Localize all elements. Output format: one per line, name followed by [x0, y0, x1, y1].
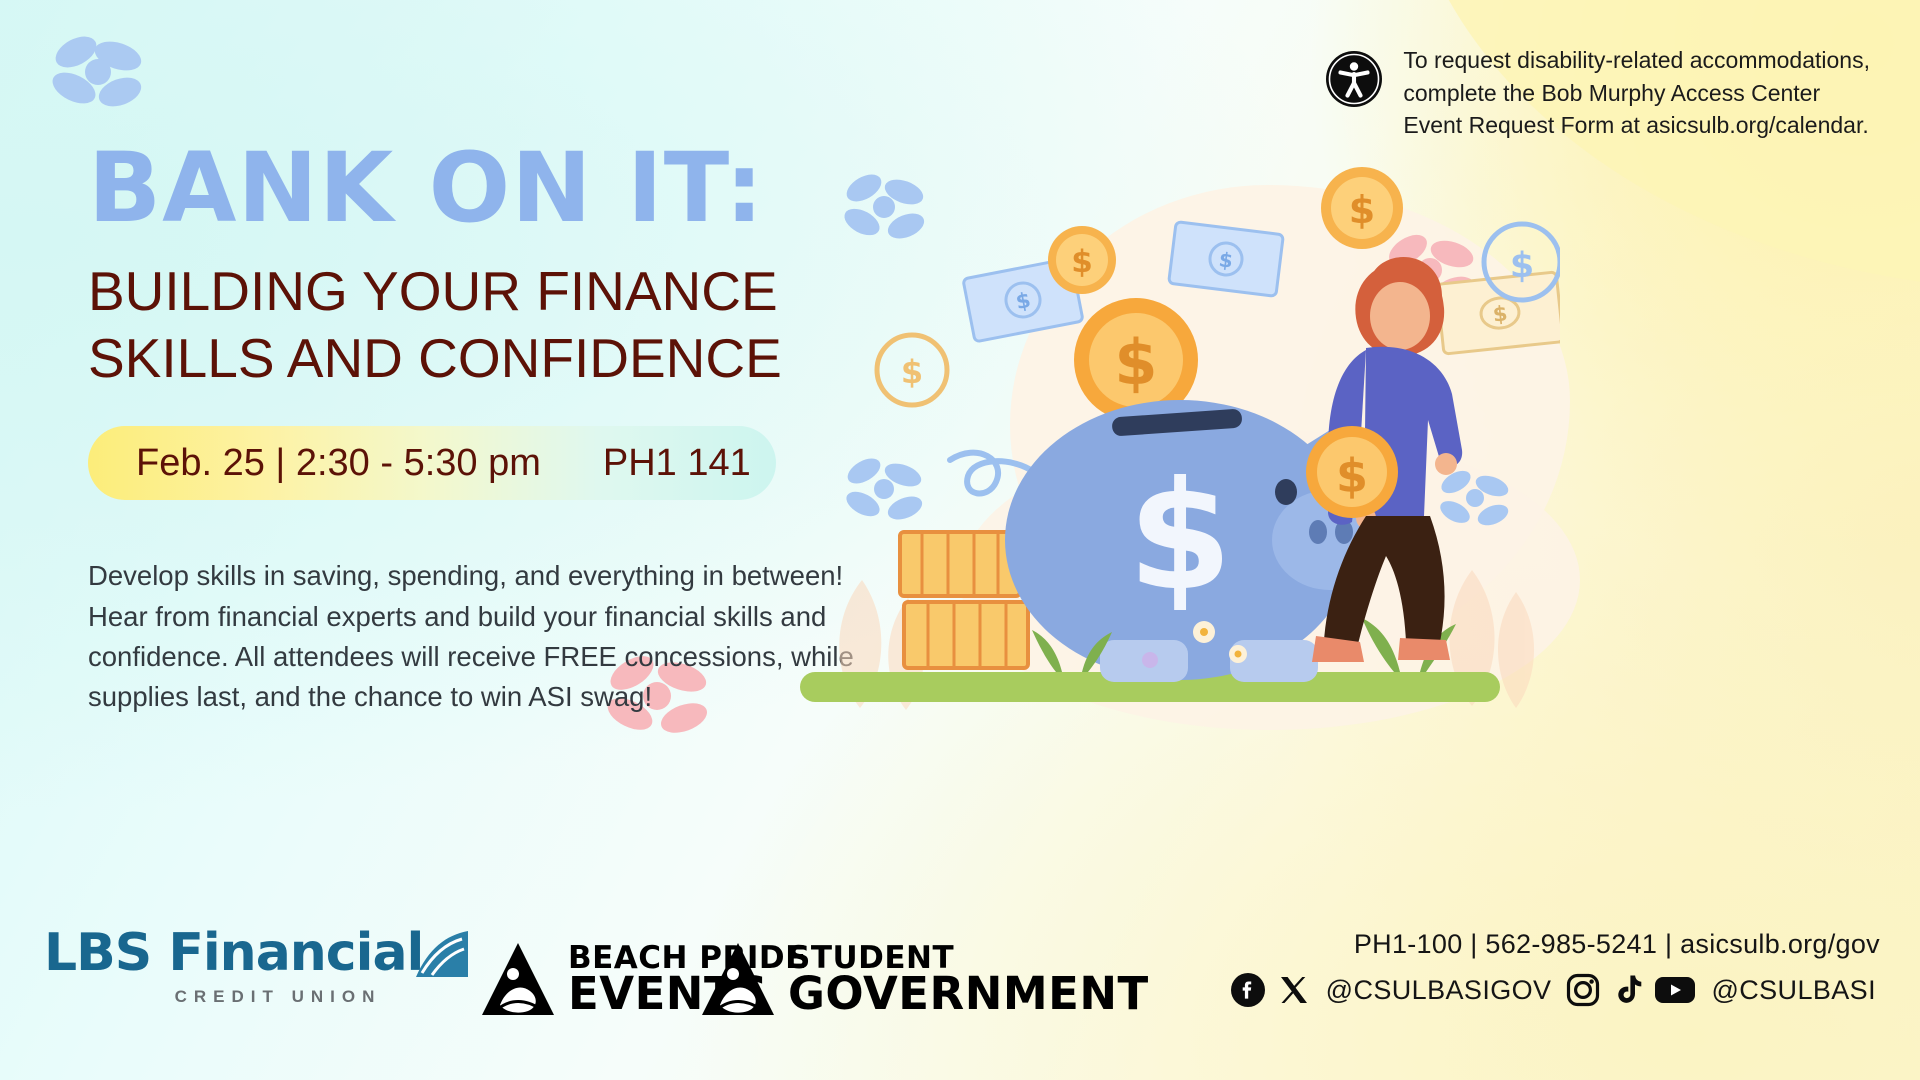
svg-text:$: $	[1114, 326, 1157, 399]
svg-text:$: $	[1336, 449, 1368, 503]
description-line-2: Hear from financial experts and build yo…	[88, 597, 798, 637]
youtube-icon[interactable]	[1654, 974, 1696, 1006]
event-room: PH1 141	[603, 442, 751, 485]
event-description: Develop skills in saving, spending, and …	[88, 556, 798, 718]
accessibility-line-1: To request disability-related accommodat…	[1403, 44, 1870, 77]
social-row: @CSULBASIGOV @CSULBASI	[1230, 972, 1880, 1008]
lbs-financial-subtitle: CREDIT UNION	[44, 987, 381, 1007]
accessibility-icon	[1325, 50, 1383, 108]
flower-decoration-topleft	[46, 30, 156, 130]
coin-outline-left: $	[877, 335, 947, 405]
svg-text:$: $	[1218, 247, 1235, 273]
headline-block: BANK ON IT: BUILDING YOUR FINANCE SKILLS…	[88, 140, 848, 718]
svg-text:$: $	[1128, 450, 1232, 624]
svg-text:$: $	[901, 353, 923, 391]
footer: LBS Financial CREDIT UNION BEACH PRIDE E…	[0, 905, 1920, 1080]
description-line-4: supplies last, and the chance to win ASI…	[88, 677, 798, 717]
svg-text:$: $	[1492, 301, 1509, 326]
tiktok-icon[interactable]	[1611, 973, 1643, 1007]
svg-text:$: $	[1510, 246, 1534, 286]
dollar-bill-right: $	[1437, 272, 1560, 354]
piggy-bank-savings-illustration: $ $ $ $ $ $ $	[800, 120, 1560, 740]
svg-text:$: $	[1071, 244, 1093, 280]
facebook-icon[interactable]	[1230, 972, 1266, 1008]
piggy-eye	[1275, 479, 1297, 505]
svg-text:$: $	[1349, 188, 1375, 232]
dollar-bill-mid: $	[1169, 222, 1284, 297]
event-flyer: To request disability-related accommodat…	[0, 0, 1920, 1080]
lbs-financial-wordmark: LBS Financial	[44, 927, 423, 979]
social-handle-primary: @CSULBASIGOV	[1326, 975, 1552, 1006]
lbs-financial-logo: LBS Financial CREDIT UNION	[44, 927, 423, 1007]
lbs-swoosh-icon	[412, 929, 470, 981]
event-date-time: Feb. 25 | 2:30 - 5:30 pm	[136, 442, 541, 485]
coin-top-right: $	[1321, 167, 1403, 249]
subtitle-line-2: SKILLS AND CONFIDENCE	[88, 325, 848, 392]
asi-triangle-icon-2	[700, 941, 776, 1019]
contact-block: PH1-100 | 562-985-5241 | asicsulb.org/go…	[1230, 929, 1880, 1008]
page-title: BANK ON IT:	[88, 140, 848, 236]
x-twitter-icon[interactable]	[1277, 973, 1311, 1007]
description-line-3: confidence. All attendees will receive F…	[88, 637, 798, 677]
subtitle-line-1: BUILDING YOUR FINANCE	[88, 258, 848, 325]
student-government-line-2: GOVERNMENT	[788, 973, 1149, 1016]
accessibility-line-2: complete the Bob Murphy Access Center	[1403, 77, 1870, 110]
coin-upper-mid: $	[1048, 226, 1116, 294]
instagram-icon[interactable]	[1566, 973, 1600, 1007]
description-line-1: Develop skills in saving, spending, and …	[88, 556, 798, 596]
event-details-pill: Feb. 25 | 2:30 - 5:30 pm PH1 141	[88, 426, 776, 500]
student-government-wordmark: STUDENT GOVERNMENT	[788, 944, 1149, 1016]
social-handle-secondary: @CSULBASI	[1711, 975, 1876, 1006]
page-subtitle: BUILDING YOUR FINANCE SKILLS AND CONFIDE…	[88, 258, 848, 392]
student-government-logo: STUDENT GOVERNMENT	[700, 941, 1149, 1019]
contact-line: PH1-100 | 562-985-5241 | asicsulb.org/go…	[1230, 929, 1880, 960]
asi-triangle-icon	[480, 941, 556, 1019]
